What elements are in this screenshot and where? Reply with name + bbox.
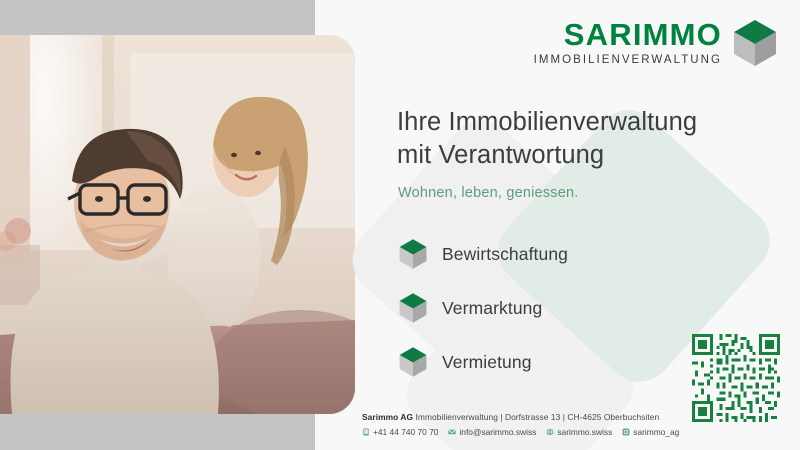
logo-tagline: IMMOBILIENVERWALTUNG — [534, 55, 722, 67]
envelope-icon — [448, 428, 456, 436]
globe-icon — [546, 428, 554, 436]
green-cube-icon — [398, 238, 428, 270]
list-item[interactable]: Bewirtschaftung — [398, 238, 568, 270]
logo-company-name: SARIMMO — [564, 19, 722, 50]
advertisement-banner: SARIMMO IMMOBILIENVERWALTUNG Ihre Immobi… — [0, 0, 800, 450]
footer-links-line: +41 44 740 70 70 info@sarimmo.swiss sari… — [362, 427, 685, 437]
footer-social[interactable]: sarimmo_ag — [622, 427, 679, 437]
phone-icon — [362, 428, 370, 436]
list-item[interactable]: Vermarktung — [398, 292, 568, 324]
photo-illustration — [0, 35, 355, 414]
footer-address: Immobilienverwaltung | Dorfstrasse 13 | … — [413, 412, 659, 422]
headline-line-1: Ihre Immobilienverwaltung — [397, 108, 697, 136]
footer-phone-text: +41 44 740 70 70 — [373, 427, 438, 437]
green-cube-icon — [732, 18, 778, 68]
list-item-label: Vermietung — [442, 352, 532, 373]
footer-social-text: sarimmo_ag — [633, 427, 679, 437]
list-item-label: Bewirtschaftung — [442, 244, 568, 265]
qr-code[interactable] — [692, 334, 780, 422]
gray-accent-panel-top — [0, 0, 315, 36]
gray-accent-panel-bottom — [0, 413, 315, 450]
couple-on-sofa-photo — [0, 35, 355, 414]
footer-address-line: Sarimmo AG Immobilienverwaltung | Dorfst… — [362, 412, 685, 422]
page-title: Ihre Immobilienverwaltung mit Verantwort… — [397, 106, 787, 172]
footer-email[interactable]: info@sarimmo.swiss — [448, 427, 536, 437]
list-item-label: Vermarktung — [442, 298, 542, 319]
green-cube-icon — [398, 292, 428, 324]
footer-email-text: info@sarimmo.swiss — [459, 427, 536, 437]
list-item[interactable]: Vermietung — [398, 346, 568, 378]
footer-website-text: sarimmo.swiss — [557, 427, 612, 437]
headline-line-2: mit Verantwortung — [397, 139, 787, 172]
sarimmo-logo[interactable]: SARIMMO IMMOBILIENVERWALTUNG — [534, 18, 778, 68]
subheadline: Wohnen, leben, geniessen. — [398, 185, 578, 201]
services-list: Bewirtschaftung Vermarktung Vermietung — [398, 238, 568, 378]
footer-company-name: Sarimmo AG — [362, 412, 413, 422]
footer-phone[interactable]: +41 44 740 70 70 — [362, 427, 438, 437]
instagram-icon — [622, 428, 630, 436]
logo-wordmark: SARIMMO IMMOBILIENVERWALTUNG — [534, 19, 722, 67]
green-cube-icon — [398, 346, 428, 378]
footer-website[interactable]: sarimmo.swiss — [546, 427, 612, 437]
footer-contact: Sarimmo AG Immobilienverwaltung | Dorfst… — [362, 412, 685, 437]
